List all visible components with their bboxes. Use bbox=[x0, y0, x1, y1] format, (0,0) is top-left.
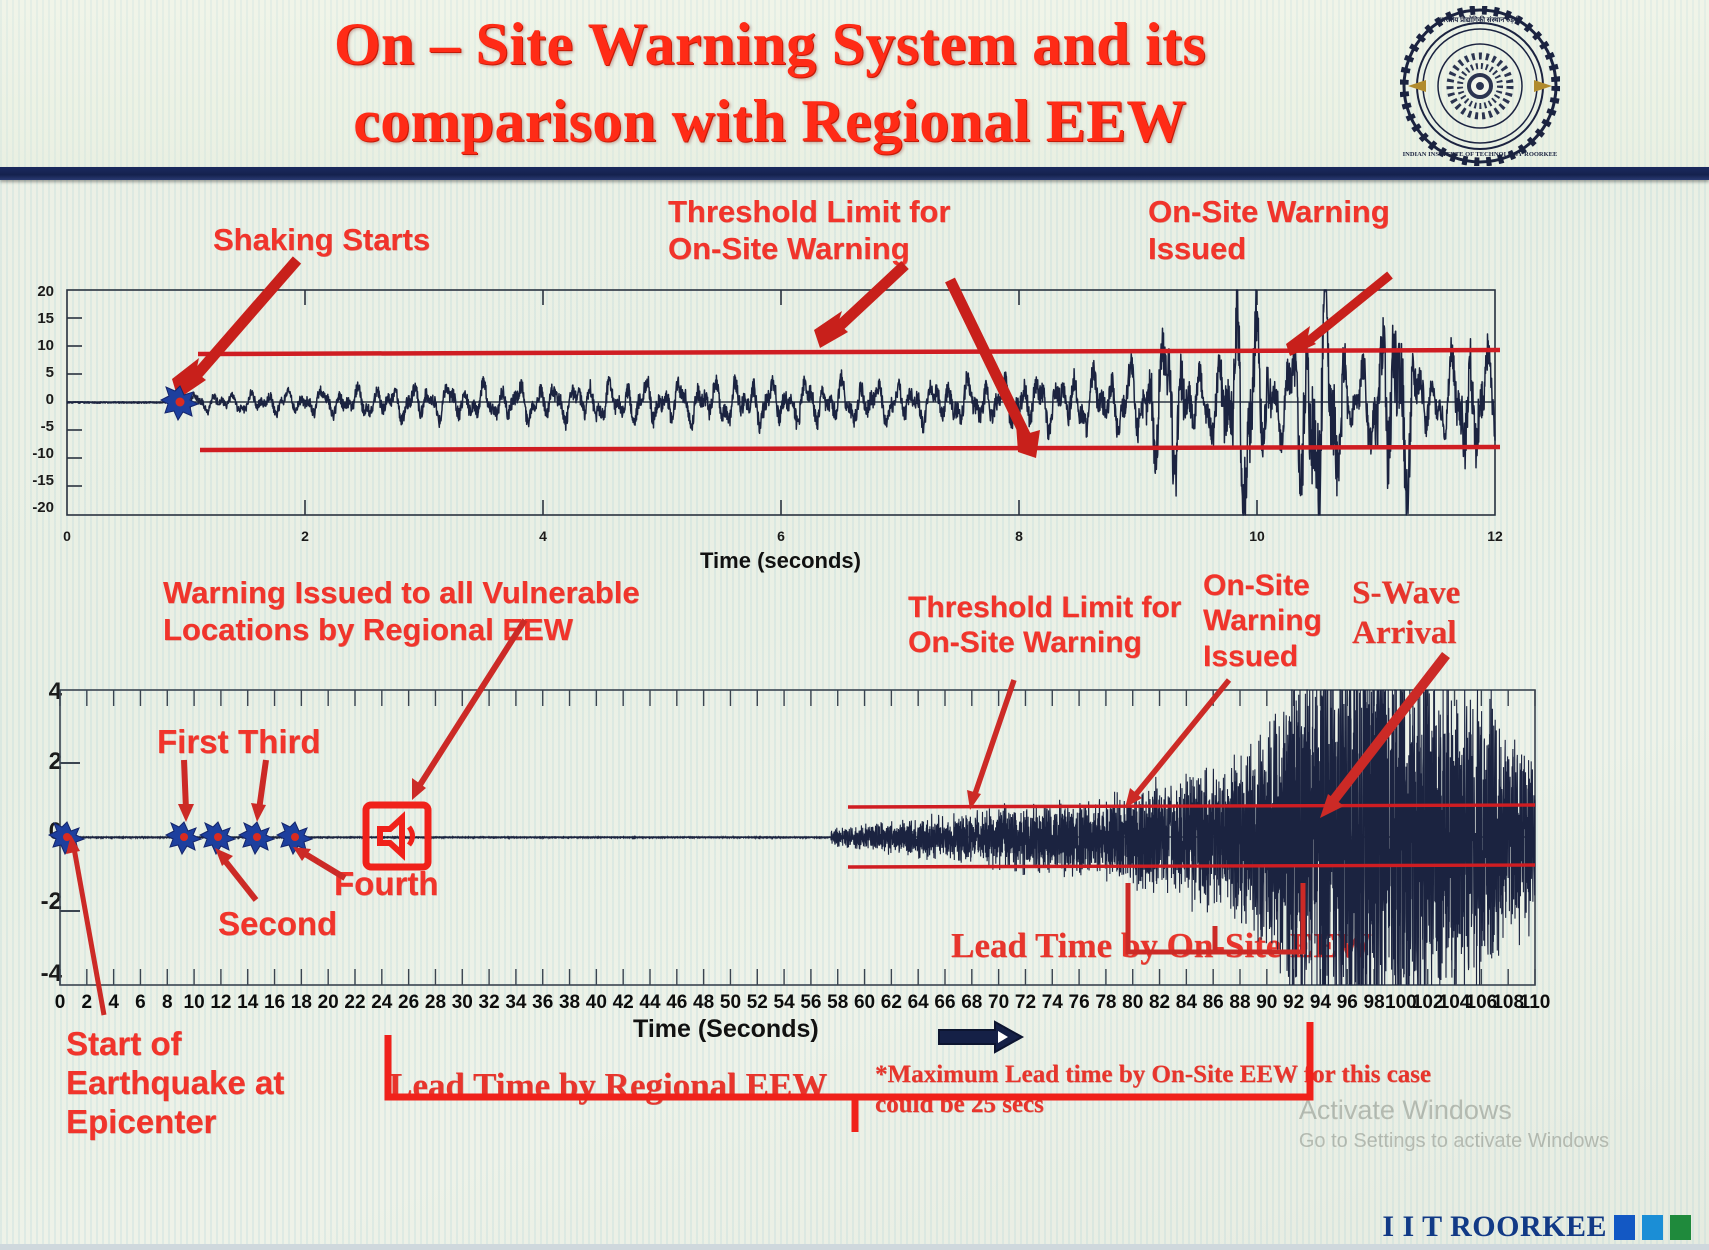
bottom-xtick-110: 110 bbox=[1513, 992, 1557, 1014]
slide-header: On – Site Warning System and its compari… bbox=[0, 0, 1709, 170]
regional-warning-speaker-icon bbox=[366, 805, 428, 867]
page-title-line-1: On – Site Warning System and its bbox=[150, 6, 1390, 83]
annotation-threshold-limit-bottom-line2: On-Site Warning bbox=[908, 625, 1181, 660]
annotation-s-wave-arrival: S-Wave Arrival bbox=[1352, 574, 1460, 653]
threshold-line-lower bbox=[200, 447, 1500, 450]
second-trigger-star-marker bbox=[200, 822, 235, 854]
arrow-first bbox=[178, 760, 194, 822]
top-ytick-5: 5 bbox=[10, 364, 54, 381]
annotation-lead-time-onsite: Lead Time by On-Site EEW bbox=[951, 925, 1372, 967]
annotation-start-of-earthquake-line2: Earthquake at bbox=[66, 1064, 284, 1103]
annotation-threshold-limit-bottom-line1: Threshold Limit for bbox=[908, 590, 1181, 625]
first-trigger-star-marker bbox=[166, 822, 201, 854]
annotation-onsite-warning-issued-top-line2: Issued bbox=[1148, 231, 1390, 268]
annotation-shaking-starts: Shaking Starts bbox=[213, 222, 430, 259]
annotation-onsite-warning-issued-bottom: On-Site Warning Issued bbox=[1203, 568, 1322, 674]
top-accelerogram-chart: Shaking Starts Threshold Limit for On-Si… bbox=[0, 180, 1709, 560]
third-trigger-star-marker bbox=[239, 822, 274, 854]
bottom-ytick-m2: -2 bbox=[18, 888, 62, 916]
fourth-trigger-star-marker bbox=[277, 822, 312, 854]
annotation-lead-time-regional: Lead Time by Regional EEW bbox=[389, 1065, 827, 1107]
arrow-shaking-starts bbox=[172, 260, 297, 399]
top-xtick-4: 4 bbox=[528, 528, 558, 544]
annotation-onsite-warning-issued-top-line1: On-Site Warning bbox=[1148, 194, 1390, 231]
top-xtick-0: 0 bbox=[52, 528, 82, 544]
top-ytick-m15: -15 bbox=[10, 472, 54, 489]
annotation-onsite-warning-issued-bottom-line2: Warning bbox=[1203, 603, 1322, 638]
watermark-line-1: Activate Windows bbox=[1299, 1092, 1609, 1128]
page-title-line-2: comparison with Regional EEW bbox=[150, 83, 1390, 160]
arrow-threshold-limit-top-lower bbox=[950, 280, 1040, 458]
iit-roorkee-seal-icon: भारतीय प्रौद्योगिकी संस्थान रुड़की INDIA… bbox=[1400, 6, 1560, 166]
brand-square-2 bbox=[1642, 1215, 1663, 1240]
bottom-ytick-2: 2 bbox=[18, 748, 62, 776]
annotation-second: Second bbox=[218, 905, 337, 944]
arrow-threshold-limit-bottom bbox=[967, 680, 1014, 810]
top-ytick-15: 15 bbox=[10, 310, 54, 327]
annotation-regional-warning-issued-line2: Locations by Regional EEW bbox=[163, 612, 640, 649]
brand-square-3 bbox=[1670, 1215, 1691, 1240]
annotation-threshold-limit-top-line1: Threshold Limit for bbox=[668, 194, 950, 231]
top-xtick-12: 12 bbox=[1480, 528, 1510, 544]
annotation-fourth: Fourth bbox=[334, 865, 438, 904]
bottom-ytick-m4: -4 bbox=[18, 960, 62, 988]
bottom-xaxis-label: Time (Seconds) bbox=[633, 1015, 819, 1044]
top-ytick-0: 0 bbox=[10, 391, 54, 408]
arrow-s-wave-arrival bbox=[1320, 655, 1446, 818]
time-direction-arrow-icon bbox=[939, 1022, 1022, 1052]
bottom-threshold-line-upper bbox=[848, 805, 1535, 807]
top-ytick-m10: -10 bbox=[10, 445, 54, 462]
svg-text:INDIAN INSTITUTE OF TECHNOLOGY: INDIAN INSTITUTE OF TECHNOLOGY ROORKEE bbox=[1403, 151, 1558, 158]
top-ytick-m5: -5 bbox=[10, 418, 54, 435]
watermark-line-2: Go to Settings to activate Windows bbox=[1299, 1128, 1609, 1155]
arrow-second bbox=[215, 848, 256, 900]
top-xtick-6: 6 bbox=[766, 528, 796, 544]
annotation-regional-warning-issued: Warning Issued to all Vulnerable Locatio… bbox=[163, 575, 640, 648]
top-xtick-2: 2 bbox=[290, 528, 320, 544]
footer-strip bbox=[0, 1244, 1709, 1250]
arrow-onsite-warning-issued-top bbox=[1286, 275, 1390, 356]
annotation-onsite-warning-issued-top: On-Site Warning Issued bbox=[1148, 194, 1390, 267]
page-title: On – Site Warning System and its compari… bbox=[150, 6, 1390, 160]
svg-text:भारतीय प्रौद्योगिकी संस्थान रु: भारतीय प्रौद्योगिकी संस्थान रुड़की bbox=[1439, 15, 1522, 24]
annotation-start-of-earthquake-line1: Start of bbox=[66, 1025, 284, 1064]
header-divider bbox=[0, 167, 1709, 180]
arrow-start-of-earthquake bbox=[66, 835, 104, 1015]
annotation-threshold-limit-top-line2: On-Site Warning bbox=[668, 231, 950, 268]
iit-roorkee-brand: I I T ROORKEE bbox=[1382, 1210, 1691, 1244]
shaking-starts-star-marker bbox=[161, 386, 198, 420]
annotation-footnote-line1: *Maximum Lead time by On-Site EEW for th… bbox=[875, 1060, 1431, 1090]
annotation-threshold-limit-top: Threshold Limit for On-Site Warning bbox=[668, 194, 950, 267]
brand-square-1 bbox=[1614, 1215, 1635, 1240]
bottom-ytick-4: 4 bbox=[18, 678, 62, 706]
threshold-line-upper bbox=[198, 350, 1500, 354]
slide-root: On – Site Warning System and its compari… bbox=[0, 0, 1709, 1250]
arrow-third bbox=[251, 760, 266, 822]
top-xtick-8: 8 bbox=[1004, 528, 1034, 544]
top-xtick-10: 10 bbox=[1242, 528, 1272, 544]
annotation-start-of-earthquake-line3: Epicenter bbox=[66, 1103, 284, 1142]
annotation-regional-warning-issued-line1: Warning Issued to all Vulnerable bbox=[163, 575, 640, 612]
bottom-threshold-line-lower bbox=[848, 865, 1535, 867]
top-ytick-m20: -20 bbox=[10, 499, 54, 516]
annotation-onsite-warning-issued-bottom-line1: On-Site bbox=[1203, 568, 1322, 603]
annotation-third: Third bbox=[238, 723, 320, 762]
annotation-s-wave-arrival-line1: S-Wave bbox=[1352, 574, 1460, 614]
top-ytick-10: 10 bbox=[10, 337, 54, 354]
arrow-onsite-warning-issued-bottom bbox=[1125, 680, 1229, 808]
annotation-onsite-warning-issued-bottom-line3: Issued bbox=[1203, 639, 1322, 674]
annotation-threshold-limit-bottom: Threshold Limit for On-Site Warning bbox=[908, 590, 1181, 661]
brand-name: I I T ROORKEE bbox=[1382, 1210, 1607, 1244]
annotation-start-of-earthquake: Start of Earthquake at Epicenter bbox=[66, 1025, 284, 1142]
annotation-first: First bbox=[157, 723, 229, 762]
windows-activation-watermark: Activate Windows Go to Settings to activ… bbox=[1299, 1092, 1609, 1155]
arrow-threshold-limit-top bbox=[814, 265, 905, 348]
bottom-ytick-0: 0 bbox=[18, 818, 62, 846]
annotation-s-wave-arrival-line2: Arrival bbox=[1352, 614, 1460, 654]
top-ytick-20: 20 bbox=[10, 283, 54, 300]
